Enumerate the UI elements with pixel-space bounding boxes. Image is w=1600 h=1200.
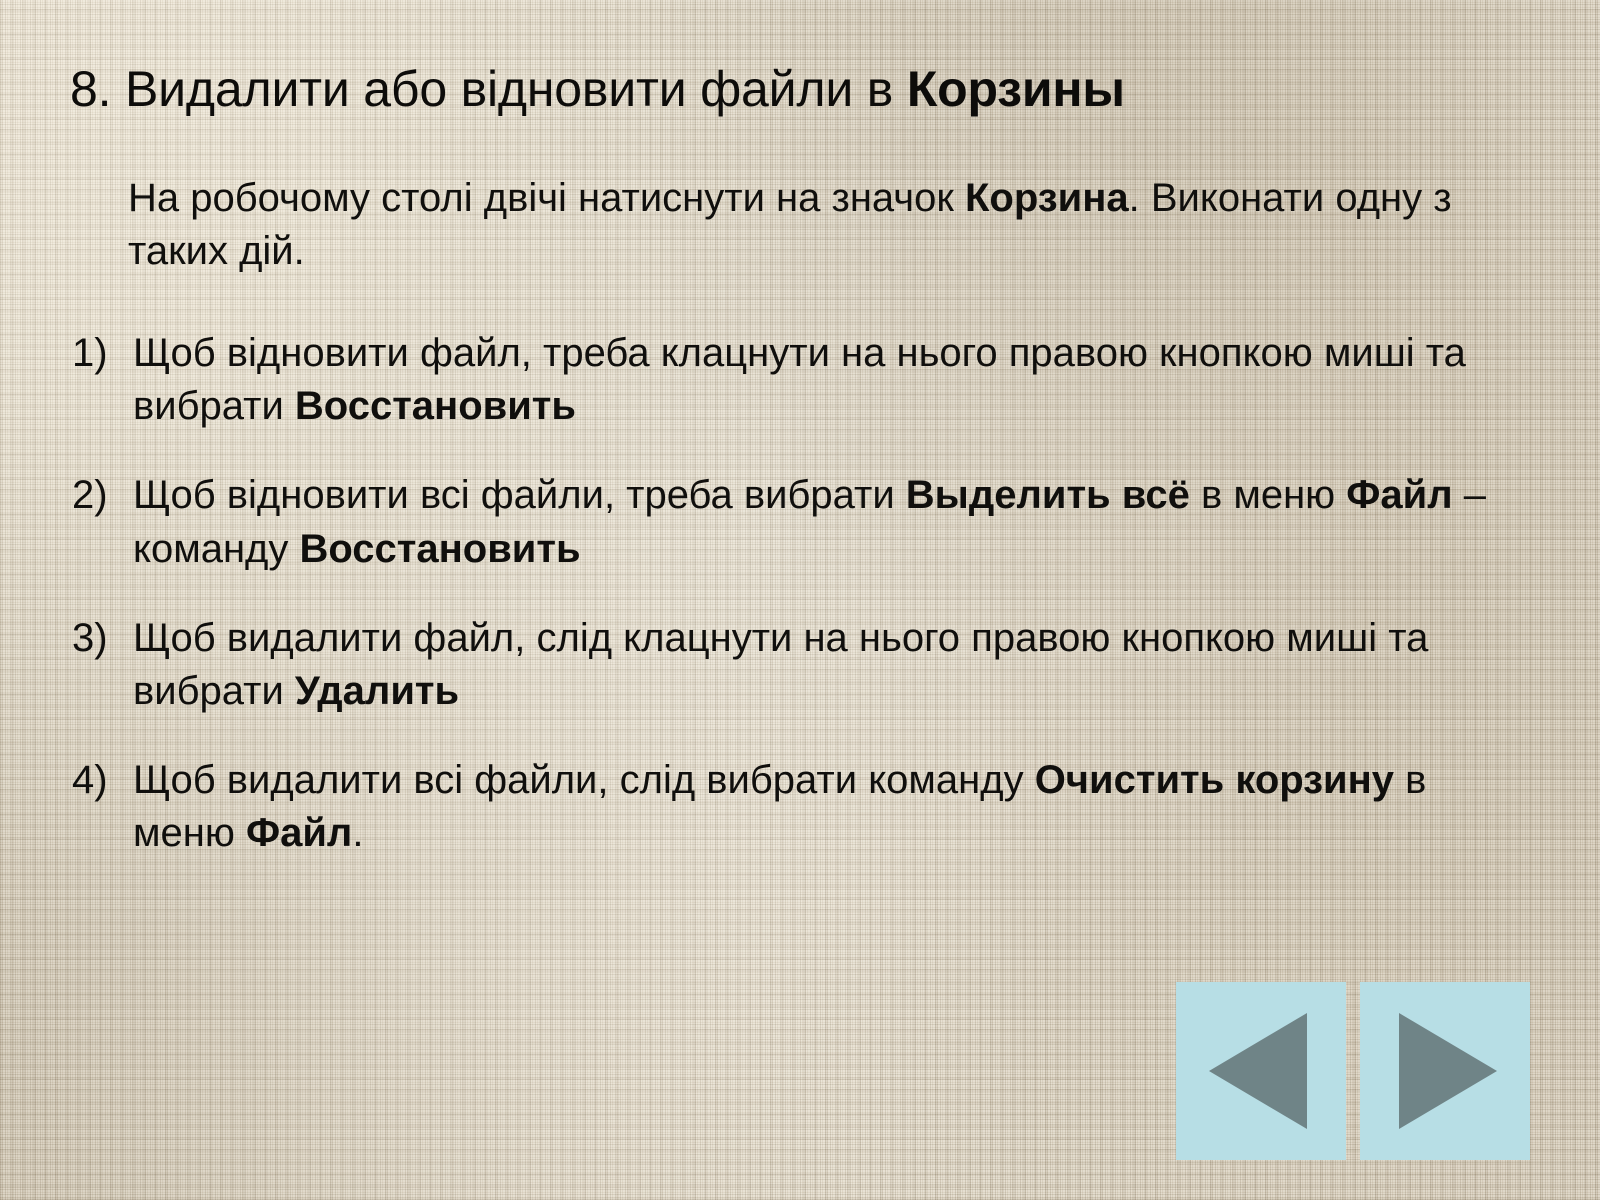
steps-list: 1)Щоб відновити файл, треба клацнути на … <box>72 327 1492 861</box>
intro-emphasis-recycle-bin: Корзина <box>965 176 1129 220</box>
triangle-left-icon <box>1209 1013 1307 1129</box>
list-item-marker: 3) <box>72 612 130 665</box>
list-item: 3)Щоб видалити файл, слід клацнути на нь… <box>72 612 1492 718</box>
slide-title-number: 8. <box>70 61 111 117</box>
list-item-marker: 4) <box>72 754 130 807</box>
list-item-text-part3: . <box>352 811 363 855</box>
list-item-emphasis-2: Файл <box>1346 473 1452 517</box>
list-item-emphasis-1: Выделить всё <box>906 473 1190 517</box>
list-item-marker: 1) <box>72 327 130 380</box>
previous-slide-button[interactable] <box>1176 982 1346 1160</box>
list-item: 4)Щоб видалити всі файли, слід вибрати к… <box>72 754 1492 860</box>
triangle-right-icon <box>1399 1013 1497 1129</box>
slide-navigation <box>1176 982 1530 1160</box>
list-item-text-part2: в меню <box>1190 473 1346 517</box>
slide-title-text: Видалити або відновити файли в <box>111 61 907 117</box>
list-item: 2)Щоб відновити всі файли, треба вибрати… <box>72 469 1492 575</box>
presentation-slide: 8. Видалити або відновити файли в Корзин… <box>0 0 1600 1200</box>
list-item-text-part1: Щоб видалити всі файли, слід вибрати ком… <box>133 758 1035 802</box>
list-item-emphasis-3: Восстановить <box>299 527 580 571</box>
intro-text-part1: На робочому столі двічі натиснути на зна… <box>128 176 965 220</box>
list-item-marker: 2) <box>72 469 130 522</box>
list-item-emphasis-1: Восстановить <box>295 384 576 428</box>
slide-title: 8. Видалити або відновити файли в Корзин… <box>70 62 1530 116</box>
list-item-emphasis-1: Очистить корзину <box>1035 758 1394 802</box>
next-slide-button[interactable] <box>1360 982 1530 1160</box>
list-item-emphasis-1: Удалить <box>295 669 459 713</box>
list-item: 1)Щоб відновити файл, треба клацнути на … <box>72 327 1492 433</box>
list-item-emphasis-2: Файл <box>246 811 352 855</box>
list-item-text-part1: Щоб відновити всі файли, треба вибрати <box>133 473 906 517</box>
slide-title-emphasis: Корзины <box>907 61 1125 117</box>
intro-paragraph: На робочому столі двічі натиснути на зна… <box>128 172 1473 278</box>
